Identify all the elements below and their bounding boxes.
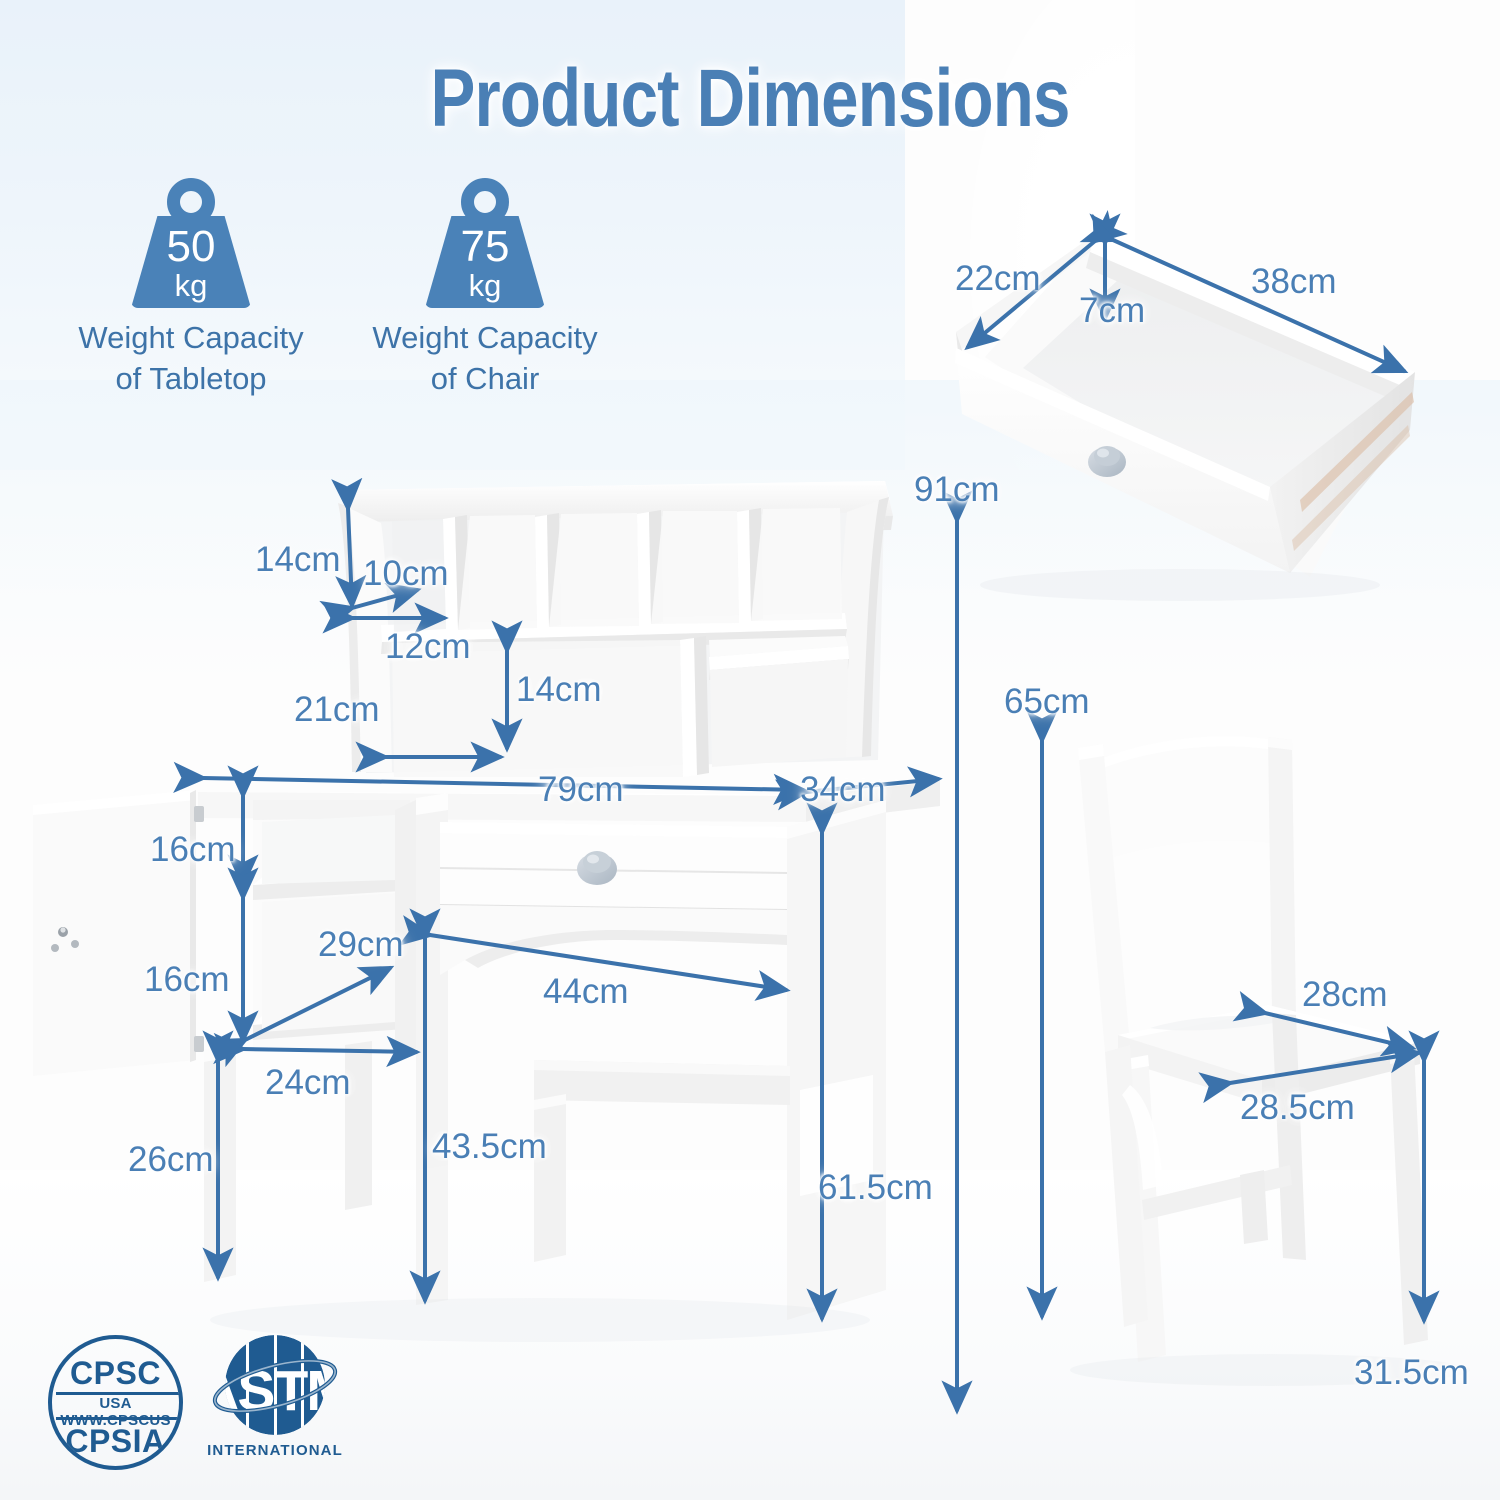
cpsc-line1: CPSC [52,1355,179,1392]
dim-desk-top-width: 79cm [538,770,624,810]
dim-desk-top-depth: 34cm [800,770,886,810]
dim-knee-width: 44cm [543,972,629,1012]
dim-chair-total-height: 65cm [1004,682,1090,722]
dim-desk-total-height: 91cm [914,470,1000,510]
chair-illustration [1070,736,1470,1386]
dim-cabinet-shelf-depth: 29cm [318,925,404,965]
cpsc-cpsia-logo: CPSC USA WWW.CPSCUS CPSIA [48,1335,183,1470]
dim-drawer-width: 38cm [1251,262,1337,302]
dim-hutch-cubby-height-lower: 14cm [516,670,602,710]
astm-logo: ASTM INTERNATIONAL [200,1330,350,1480]
dim-knee-height: 43.5cm [432,1127,547,1167]
dim-hutch-cubby-height-upper: 14cm [255,540,341,580]
dim-cabinet-leg-height: 26cm [128,1140,214,1180]
infographic-canvas: Product Dimensions 50 kg Weight Capacity… [0,0,1500,1500]
dim-chair-seat-height: 31.5cm [1354,1353,1469,1393]
cpsc-divider-bottom [56,1417,183,1420]
dim-cabinet-upper-height: 16cm [150,830,236,870]
dim-chair-seat-width: 28.5cm [1240,1088,1355,1128]
dim-drawer-height: 7cm [1079,291,1145,331]
astm-caption: INTERNATIONAL [200,1442,350,1459]
desk-illustration [33,481,940,1342]
dim-hutch-cubby-width: 12cm [385,627,471,667]
dim-drawer-depth: 22cm [955,259,1041,299]
dim-cabinet-lower-height: 16cm [144,960,230,1000]
dim-hutch-cubby-depth: 10cm [363,554,449,594]
cpsc-line3: CPSIA [52,1423,179,1460]
dim-cabinet-shelf-width: 24cm [265,1063,351,1103]
product-illustrations [0,0,1500,1500]
dim-desk-height: 61.5cm [818,1168,933,1208]
dim-chair-seat-depth: 28cm [1302,975,1388,1015]
dim-hutch-shelf-width: 21cm [294,690,380,730]
